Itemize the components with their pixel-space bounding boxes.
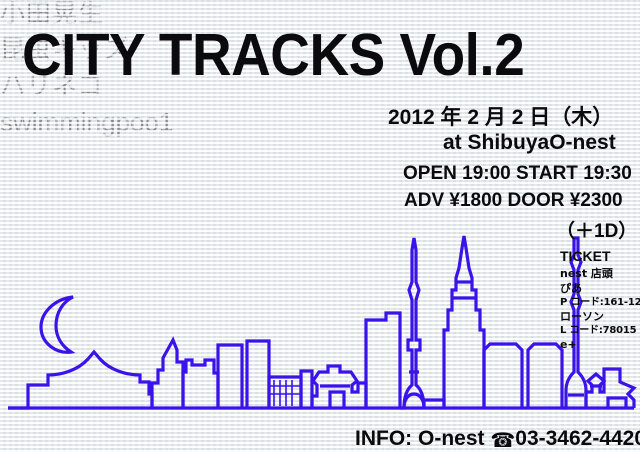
- info-phone-number: 03-3462-4420: [515, 427, 640, 450]
- spire-tower-shape: [444, 236, 484, 408]
- ticket-pia-code: P コード:161-121: [560, 297, 638, 309]
- temple-window: [330, 392, 344, 408]
- ticket-outlet-pia: ぴあ: [560, 282, 638, 296]
- ticket-outlet-lawson: ローソン: [560, 310, 638, 324]
- tall-block-a: [218, 345, 242, 408]
- ribbed-building-windows: [270, 380, 300, 406]
- page-title: CITY TRACKS Vol.2: [22, 26, 524, 85]
- low-wide-block: [366, 313, 400, 408]
- drink-surcharge-note: （＋1D）: [556, 216, 637, 243]
- ticket-lawson-code: L コード:78015: [560, 325, 638, 337]
- midrise-block-a: [484, 344, 522, 408]
- ticket-outlet-nest: nest 店頭: [560, 267, 638, 281]
- flyer-poster: CITY TRACKS Vol.2 小田晃生 昆虫キッズ ハリネコ swimmi…: [0, 0, 640, 452]
- info-label: INFO: O-nest: [355, 427, 485, 450]
- event-prices: ADV ¥1800 DOOR ¥2300: [404, 190, 623, 212]
- ticket-outlets-block: TICKET nest 店頭 ぴあ P コード:161-121 ローソン L コ…: [560, 249, 638, 353]
- pagoda-roof-shape: [28, 352, 152, 408]
- crescent-moon-icon: [41, 297, 73, 352]
- tokyo-tower-shape: [400, 238, 424, 408]
- event-times: OPEN 19:00 START 19:30: [403, 163, 632, 185]
- info-contact-line: INFO: O-nest ☎03-3462-4420: [355, 427, 640, 451]
- event-venue: at ShibuyaO-nest: [443, 131, 616, 155]
- ticket-outlet-eplus: e+: [560, 338, 638, 352]
- low-spire-building: [152, 340, 183, 408]
- telephone-icon: ☎: [490, 431, 515, 451]
- twin-office-towers: [183, 360, 218, 408]
- ticket-heading: TICKET: [560, 249, 638, 264]
- tall-block-b: [247, 341, 269, 408]
- midrise-block-b: [528, 344, 562, 408]
- event-date: 2012 年 2 月 2 日（木）: [388, 101, 613, 131]
- small-shop-block: [301, 371, 312, 408]
